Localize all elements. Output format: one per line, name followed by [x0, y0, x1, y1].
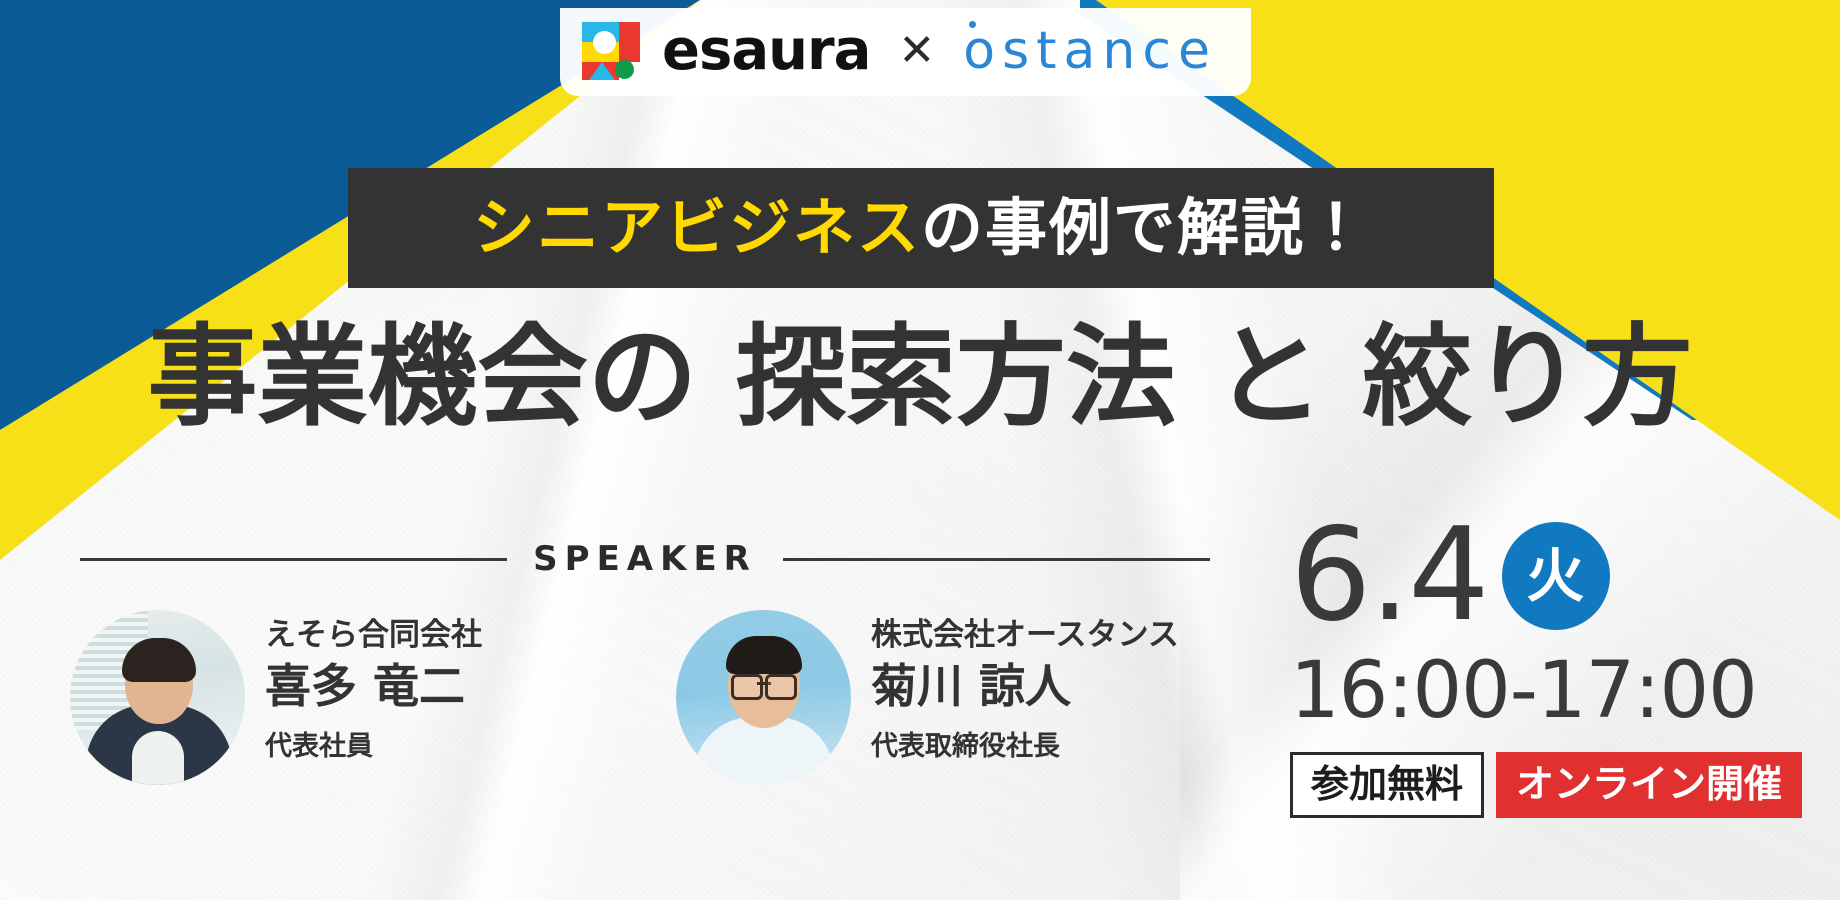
kicker-rest: の事例で解説！ [921, 191, 1369, 264]
speaker-card: 株式会社オースタンス 菊川 諒人 代表取締役社長 [676, 610, 1196, 785]
kicker-highlight: シニアビジネス [473, 191, 921, 264]
ostance-wordmark: ostance [963, 25, 1217, 77]
logo-separator-x-icon: ✕ [892, 29, 941, 73]
kicker-bar: シニアビジネスの事例で解説！ [348, 168, 1494, 288]
esaura-logo-mark-icon [582, 22, 640, 80]
speaker-name: 菊川 諒人 [871, 657, 1179, 717]
speaker-company: 株式会社オースタンス [871, 616, 1179, 655]
speaker-name: 喜多 竜二 [265, 657, 482, 717]
event-info: 6.4 火 16:00-17:00 参加無料 オンライン開催 [1290, 512, 1810, 818]
event-date: 6.4 [1290, 512, 1488, 640]
event-badges: 参加無料 オンライン開催 [1290, 752, 1810, 818]
esaura-wordmark: esaura [662, 23, 870, 79]
avatar [676, 610, 851, 785]
badge-online: オンライン開催 [1496, 752, 1802, 818]
day-of-week-badge: 火 [1502, 522, 1610, 630]
logo-lockup: esaura ✕ ostance [560, 8, 1251, 96]
day-of-week-label: 火 [1527, 547, 1585, 605]
ostance-wordmark-text: ostance [963, 21, 1217, 81]
page-title: 事業機会の 探索方法 と 絞り方 [0, 316, 1840, 439]
speaker-company: えそら合同会社 [265, 616, 482, 655]
glasses-icon [731, 674, 797, 694]
divider-line-right [783, 558, 1210, 561]
webinar-banner: esaura ✕ ostance シニアビジネスの事例で解説！ 事業機会の 探索… [0, 0, 1840, 900]
speaker-section-header: SPEAKER [80, 542, 1210, 576]
kicker-text: シニアビジネスの事例で解説！ [473, 197, 1369, 259]
speaker-list: えそら合同会社 喜多 竜二 代表社員 株式会社オースタンス 菊川 諒人 代表取締… [70, 610, 1220, 785]
event-time: 16:00-17:00 [1290, 652, 1810, 730]
speaker-role: 代表社員 [265, 731, 482, 763]
badge-free: 参加無料 [1290, 752, 1484, 818]
divider-line-left [80, 558, 507, 561]
speaker-section-label: SPEAKER [533, 542, 757, 576]
speaker-role: 代表取締役社長 [871, 731, 1179, 763]
event-date-row: 6.4 火 [1290, 512, 1810, 640]
speaker-card: えそら合同会社 喜多 竜二 代表社員 [70, 610, 590, 785]
avatar [70, 610, 245, 785]
